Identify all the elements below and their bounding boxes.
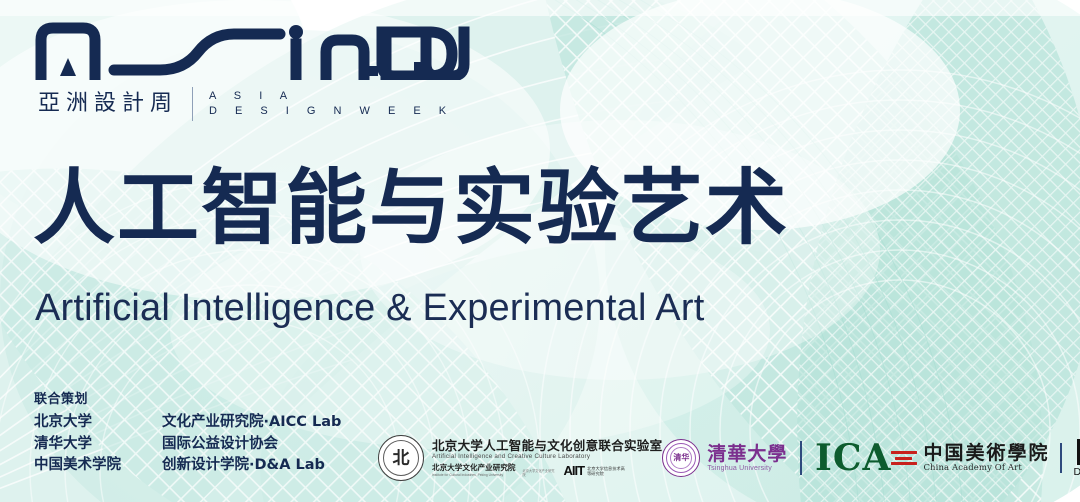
pku-tiny-note: 北京大学文化产业研究院 — [523, 470, 557, 478]
pku-lab-name-cn: 北京大学人工智能与文化创意联合实验室 — [432, 439, 662, 452]
logo-divider — [192, 87, 193, 121]
page-title-chinese: 人工智能与实验艺术 — [33, 168, 789, 250]
partner-divider — [800, 441, 802, 475]
asia-design-week-logo: 亞洲設計周 A S I A D E S I G N W E E K — [34, 18, 472, 121]
logo-i-dot-icon — [289, 25, 303, 39]
partner-logo-pku-aicc: 北 北京大学人工智能与文化创意联合实验室 Artificial Intellig… — [378, 435, 662, 481]
logo-a-triangle-icon — [60, 58, 76, 76]
pku-seal-icon: 北 — [378, 435, 424, 481]
caa-name-cn: 中国美術學院 — [923, 444, 1049, 463]
logo-chinese-name: 亞洲設計周 — [38, 93, 178, 115]
aiit-name-cn: 北京大学信息技术高等研究院 — [587, 466, 627, 477]
pku-seal-glyph: 北 — [393, 450, 410, 467]
partner-logo-dna-lab: D&A Lab — [1073, 439, 1080, 478]
tsinghua-seal-icon: 清华 — [662, 439, 700, 477]
caa-name-en: China Academy Of Art — [923, 464, 1049, 473]
pku-lab-name-en: Artificial Intelligence and Creative Cul… — [432, 454, 662, 461]
ica-wordmark: ICA — [815, 440, 891, 476]
logo-subtitle-lockup: 亞洲設計周 A S I A D E S I G N W E E K — [38, 87, 472, 121]
page-title-english: Artificial Intelligence & Experimental A… — [35, 289, 704, 327]
partner-logo-china-academy-of-art: 中国美術學院 China Academy Of Art — [891, 444, 1049, 473]
partner-logo-tsinghua-ica: 清华 清華大學 Tsinghua University ICA — [662, 439, 891, 477]
credit-row: 清华大学 国际公益设计协会 — [34, 437, 341, 452]
partner-logo-strip: 北 北京大学人工智能与文化创意联合实验室 Artificial Intellig… — [378, 424, 1070, 492]
partner-divider — [1060, 443, 1062, 473]
tsinghua-name-en: Tsinghua University — [707, 465, 787, 472]
credit-unit: 创新设计学院·D&A Lab — [162, 458, 325, 473]
credits-block: 联合策划 北京大学 文化产业研究院·AICC Lab 清华大学 国际公益设计协会… — [34, 393, 341, 473]
credit-row: 中国美术学院 创新设计学院·D&A Lab — [34, 458, 341, 473]
asiadw-w-icon — [364, 18, 484, 80]
aiit-logo: AIIT 北京大学信息技术高等研究院 — [564, 464, 628, 477]
credit-unit: 文化产业研究院·AICC Lab — [162, 415, 341, 430]
tsinghua-name-cn: 清華大學 — [707, 445, 787, 464]
poster-content: 亞洲設計周 A S I A D E S I G N W E E K 人工智能与实… — [0, 0, 1080, 502]
caa-emblem-icon — [891, 451, 917, 465]
poster-canvas: 亞洲設計周 A S I A D E S I G N W E E K 人工智能与实… — [0, 0, 1080, 502]
logo-english-line-1: A S I A — [209, 91, 454, 102]
credit-organization: 中国美术学院 — [34, 458, 162, 473]
tsinghua-seal-glyph: 清华 — [673, 454, 689, 462]
logo-english-name: A S I A D E S I G N W E E K — [209, 91, 454, 117]
aiit-wordmark: AIIT — [564, 464, 585, 477]
logo-english-line-2: D E S I G N W E E K — [209, 106, 454, 117]
dna-lab-label: D&A Lab — [1073, 467, 1080, 478]
credit-organization: 北京大学 — [34, 415, 162, 430]
credits-heading: 联合策划 — [34, 393, 341, 406]
credit-unit: 国际公益设计协会 — [162, 437, 278, 452]
credit-organization: 清华大学 — [34, 437, 162, 452]
pku-institute-name-cn: 北京大学文化产业研究院 — [432, 464, 516, 472]
pku-institute-name-en: Institute for Cultural Industries, Pekin… — [432, 474, 516, 478]
credit-row: 北京大学 文化产业研究院·AICC Lab — [34, 415, 341, 430]
